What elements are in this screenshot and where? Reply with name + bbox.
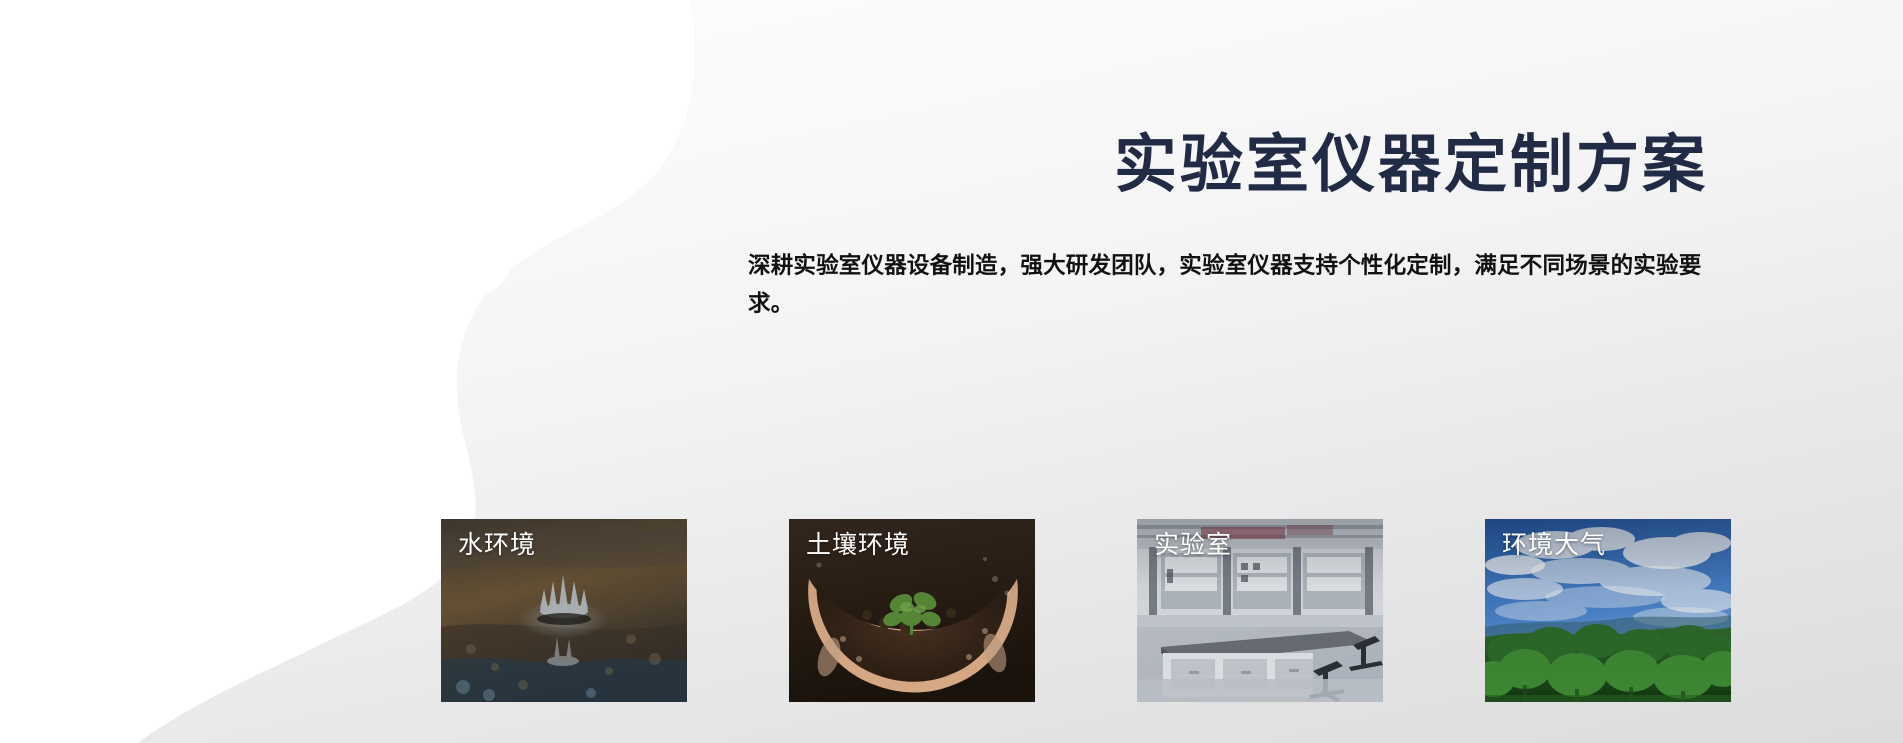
hero-subtitle: 深耕实验室仪器设备制造，强大研发团队，实验室仪器支持个性化定制，满足不同场景的实… (748, 247, 1713, 324)
hero-banner: 实验室仪器定制方案 深耕实验室仪器设备制造，强大研发团队，实验室仪器支持个性化定… (0, 0, 1903, 743)
category-card-laboratory[interactable]: 实验室 (1137, 519, 1383, 702)
category-card-water[interactable]: 水环境 (441, 519, 687, 702)
decorative-circle-large (396, 180, 518, 302)
decorative-circle-small (295, 543, 365, 613)
card-label: 土壤环境 (806, 532, 910, 560)
category-card-list: 水环境 (441, 519, 1731, 702)
category-card-atmosphere[interactable]: 环境大气 (1485, 519, 1731, 702)
category-card-soil[interactable]: 土壤环境 (789, 519, 1035, 702)
card-label: 环境大气 (1502, 532, 1606, 560)
hero-copy-block: 实验室仪器定制方案 深耕实验室仪器设备制造，强大研发团队，实验室仪器支持个性化定… (748, 130, 1708, 324)
page-title: 实验室仪器定制方案 (748, 130, 1708, 201)
card-label: 实验室 (1154, 532, 1232, 560)
card-label: 水环境 (458, 532, 536, 560)
